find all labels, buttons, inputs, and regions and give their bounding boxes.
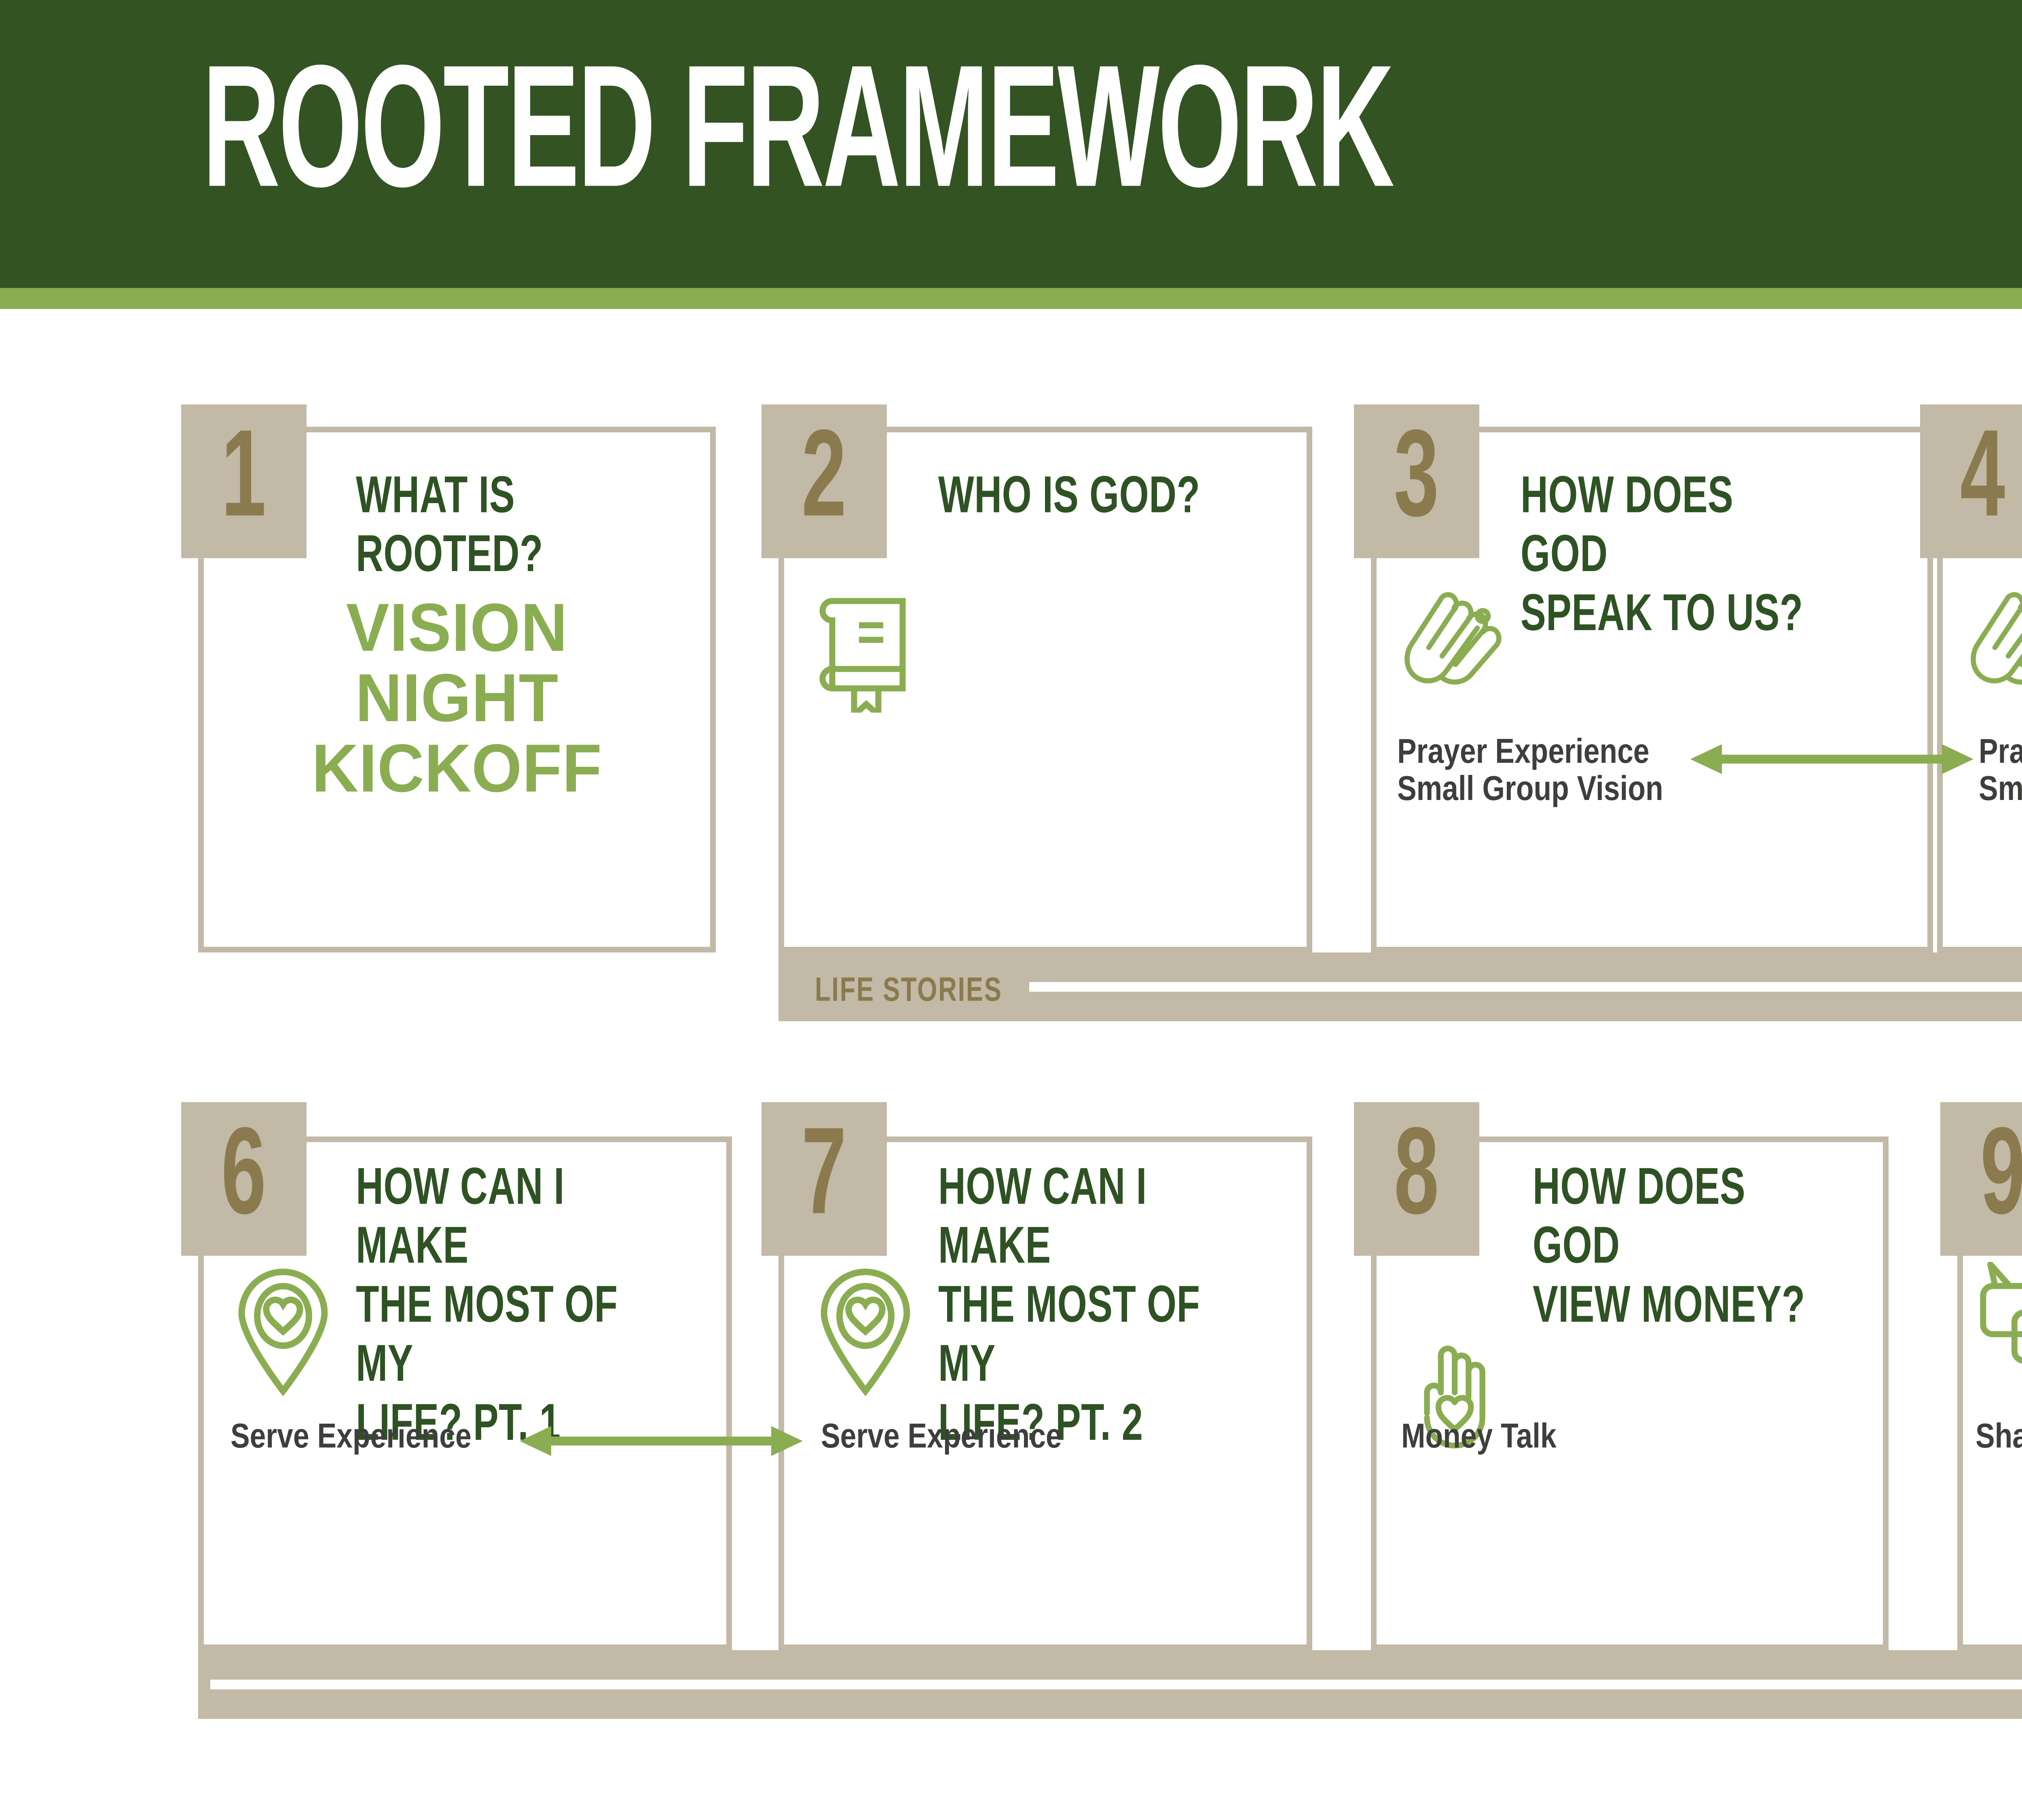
card-9-notes: Share Your Story: [1975, 1418, 2022, 1455]
card-8-title-line2: VIEW MONEY?: [1533, 1275, 1838, 1334]
card-3-notes: Prayer Experience Small Group Vision: [1397, 733, 1663, 807]
card-1-feature-line2: NIGHT: [198, 661, 716, 735]
card-8-number: 8: [1394, 1102, 1439, 1227]
page-title: ROOTED FRAMEWORK: [202, 39, 1393, 212]
header-bar: ROOTED FRAMEWORK: [0, 0, 2022, 288]
card-8-number-badge: 8: [1354, 1102, 1479, 1256]
life-stories-arrow-bottom: [210, 1668, 2022, 1701]
card-7-number-badge: 7: [761, 1102, 887, 1256]
card-1-feature-line1: VISION: [198, 590, 716, 665]
connector-arrow-6-to-7: [520, 1419, 803, 1463]
card-3-note-2: Small Group Vision: [1397, 770, 1663, 807]
map-pin-heart-icon: [813, 1267, 918, 1396]
card-3-title-line1: HOW DOES GOD: [1521, 465, 1826, 583]
life-stories-bar-top: LIFE STORIES: [778, 952, 2022, 1021]
card-7-title-line2: THE MOST OF MY: [938, 1275, 1244, 1393]
life-stories-label-top: LIFE STORIES: [815, 973, 1003, 1007]
card-4-note-1: Prayer Experience: [1979, 733, 2022, 770]
card-1-number: 1: [221, 404, 266, 530]
card-3-number: 3: [1394, 404, 1439, 530]
card-3-note-1: Prayer Experience: [1397, 733, 1663, 770]
card-1-title-line1: WHAT IS ROOTED?: [356, 466, 543, 582]
life-stories-bar-bottom: LIFE STORIES: [198, 1650, 2022, 1719]
card-4-note-2: Small Group Vision: [1979, 770, 2022, 807]
card-7-title-line1: HOW CAN I MAKE: [938, 1157, 1244, 1275]
card-8-notes: Money Talk: [1401, 1418, 1557, 1455]
card-4-notes: Prayer Experience Small Group Vision: [1979, 733, 2022, 807]
praying-hands-icon: [1397, 586, 1519, 704]
card-9-number-badge: 9: [1940, 1102, 2022, 1256]
connector-arrow-3-to-4: [1690, 737, 1973, 781]
card-9-note-1: Share Your Story: [1975, 1418, 2022, 1455]
map-pin-heart-icon: [231, 1267, 336, 1396]
card-8-note-1: Money Talk: [1401, 1418, 1557, 1455]
card-7-number: 7: [802, 1102, 846, 1227]
card-2-title-line1: WHO IS GOD?: [938, 466, 1200, 523]
card-1-title: WHAT IS ROOTED?: [356, 465, 662, 583]
card-6-number: 6: [221, 1102, 266, 1227]
card-1-number-badge: 1: [181, 404, 307, 558]
card-6-title: HOW CAN I MAKE THE MOST OF MY LIFE? PT. …: [356, 1157, 662, 1452]
speech-bubbles-icon: [1975, 1262, 2022, 1387]
card-1-feature-line3: KICKOFF: [198, 731, 716, 805]
card-2-number-badge: 2: [761, 404, 887, 558]
card-2-number: 2: [802, 404, 846, 530]
card-7-note-1: Serve Experience: [821, 1418, 1062, 1455]
life-stories-arrow-top: [1029, 971, 2022, 1003]
bible-book-icon: [813, 591, 922, 713]
card-6-title-line1: HOW CAN I MAKE: [356, 1157, 662, 1275]
card-4-number: 4: [1960, 404, 2005, 530]
card-7-notes: Serve Experience: [821, 1418, 1062, 1455]
card-6-notes: Serve Experience: [231, 1418, 472, 1455]
card-7-title: HOW CAN I MAKE THE MOST OF MY LIFE? PT. …: [938, 1157, 1244, 1452]
praying-hands-icon: [1963, 586, 2022, 704]
card-3-title: HOW DOES GOD SPEAK TO US?: [1521, 465, 1826, 642]
card-3-title-line2: SPEAK TO US?: [1521, 583, 1826, 642]
header-accent-strip: [0, 288, 2022, 309]
card-6-number-badge: 6: [181, 1102, 307, 1256]
card-8-title-line1: HOW DOES GOD: [1533, 1157, 1838, 1275]
card-6-note-1: Serve Experience: [231, 1418, 472, 1455]
card-4-number-badge: 4: [1920, 404, 2022, 558]
card-6-title-line2: THE MOST OF MY: [356, 1275, 662, 1393]
card-3-number-badge: 3: [1354, 404, 1479, 558]
card-2-title: WHO IS GOD?: [938, 465, 1244, 524]
card-9-number: 9: [1980, 1102, 2022, 1227]
card-8-title: HOW DOES GOD VIEW MONEY?: [1533, 1157, 1838, 1334]
